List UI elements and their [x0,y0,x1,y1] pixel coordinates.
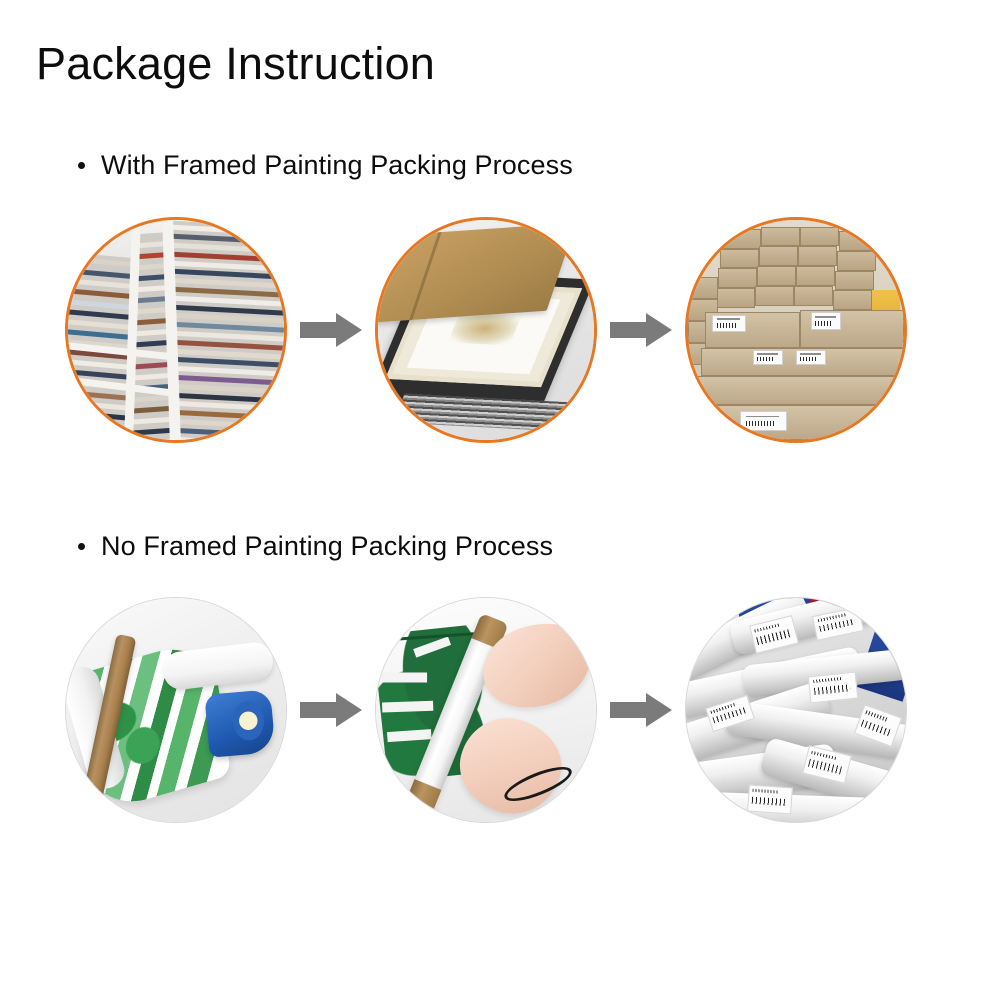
photo-palletized-cartons [688,220,904,440]
photo-stacked-wrapped-paintings [68,220,284,440]
section-heading-framed: With Framed Painting Packing Process [78,150,573,181]
photo-frame-circle [685,217,907,443]
arrow-right-icon [610,693,672,727]
bullet-point-icon [78,543,85,550]
process-row-no-frame [0,595,1000,825]
section-label-framed: With Framed Painting Packing Process [101,150,573,181]
photo-frame-circle [375,217,597,443]
step-framed-painting-in-carton [375,217,597,443]
photo-rolled-canvas-and-supplies [66,598,286,822]
step-rolled-canvas-and-supplies [65,597,287,823]
photo-frame-circle [685,597,907,823]
bullet-point-icon [78,162,85,169]
step-packaged-tubes-pile [685,597,907,823]
process-arrow-4 [597,597,685,823]
process-arrow-2 [597,217,685,443]
step-hands-rolling-print-into-tube [375,597,597,823]
section-label-no-frame: No Framed Painting Packing Process [101,531,553,562]
arrow-right-icon [300,313,362,347]
step-stacked-wrapped-paintings [65,217,287,443]
arrow-right-icon [610,313,672,347]
package-instruction-infographic: { "page": { "title": "Package Instructio… [0,0,1000,1000]
photo-frame-circle [65,217,287,443]
photo-frame-circle [65,597,287,823]
page-title: Package Instruction [36,40,435,89]
process-arrow-3 [287,597,375,823]
photo-framed-painting-in-carton [378,220,594,440]
photo-frame-circle [375,597,597,823]
arrow-right-icon [300,693,362,727]
process-arrow-1 [287,217,375,443]
photo-packaged-tubes-pile [686,598,906,822]
section-heading-no-frame: No Framed Painting Packing Process [78,531,553,562]
step-palletized-cartons [685,217,907,443]
process-row-framed [0,215,1000,445]
photo-hands-rolling-print-into-tube [376,598,596,822]
